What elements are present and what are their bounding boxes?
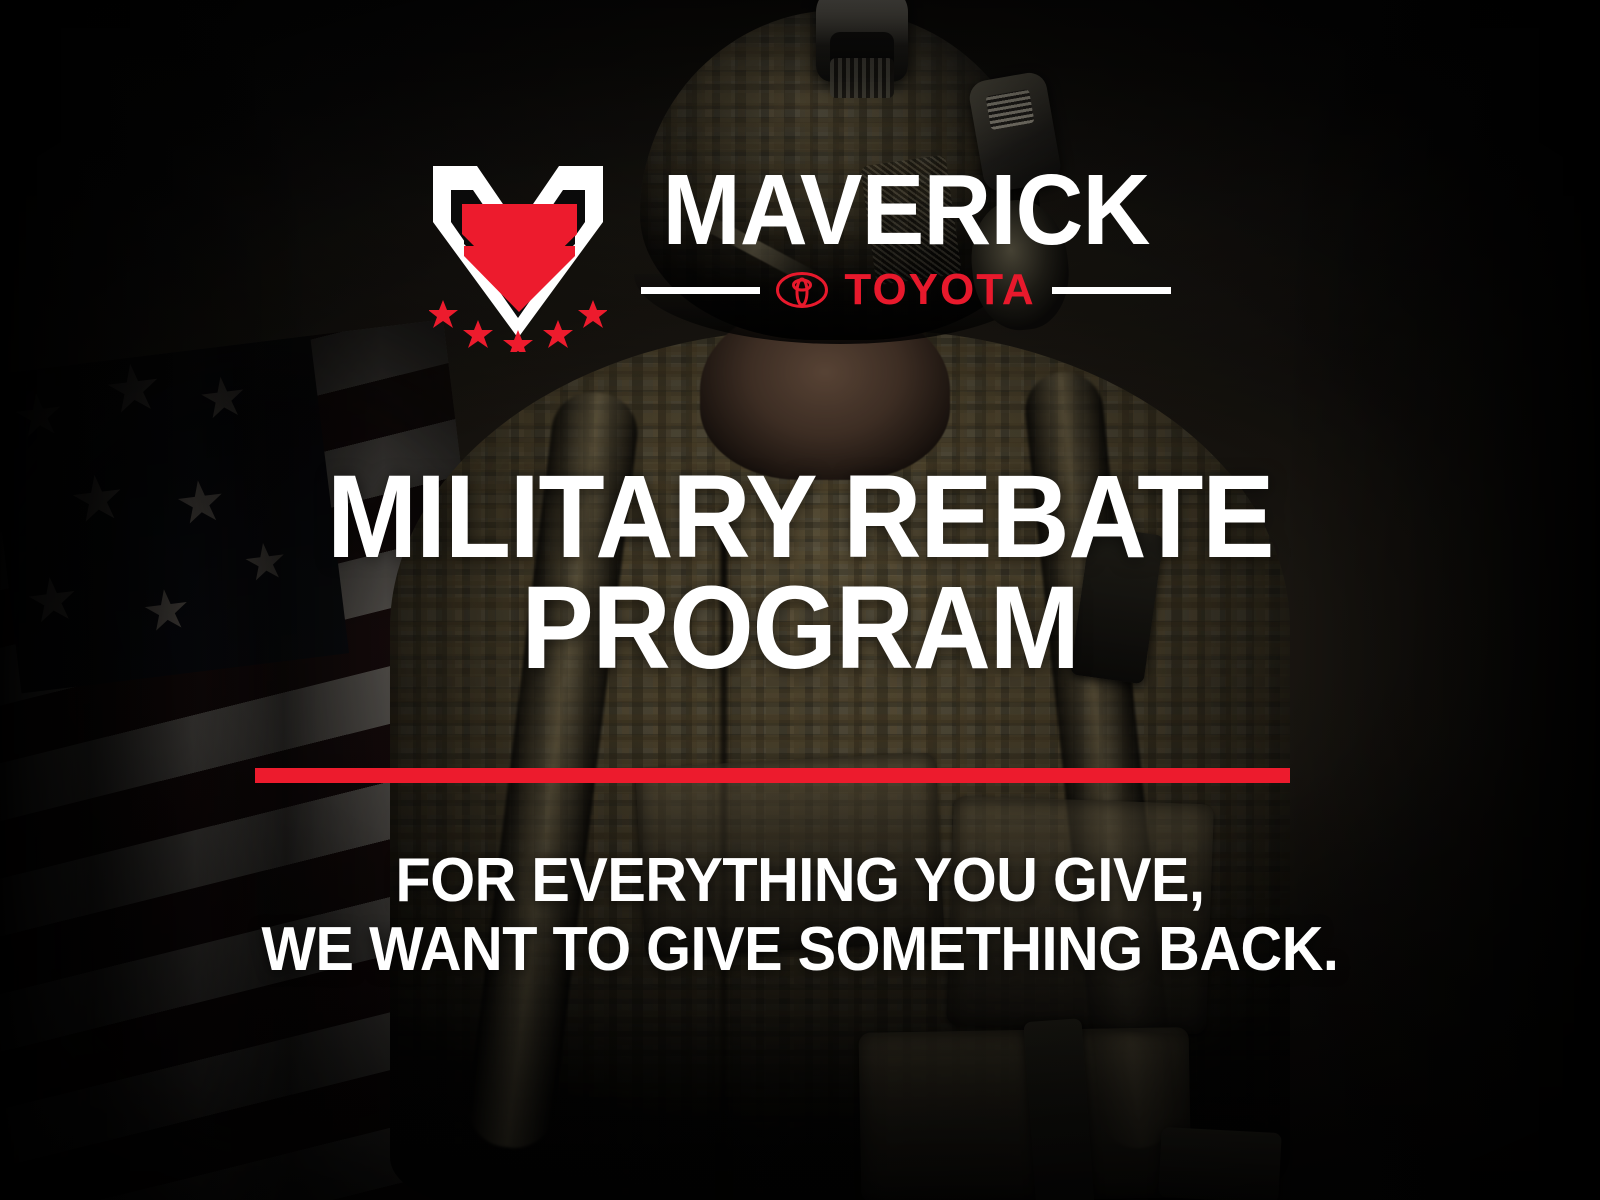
toyota-rule-right: [1052, 287, 1171, 294]
red-divider: [255, 768, 1290, 783]
make-name: TOYOTA: [844, 268, 1035, 312]
headline-line-2: PROGRAM: [64, 573, 1536, 684]
toyota-emblem-icon: [776, 272, 828, 308]
brand-logo-lockup[interactable]: MAVERICK TOYOTA: [0, 160, 1600, 360]
dealer-name: MAVERICK: [663, 164, 1150, 256]
tagline: FOR EVERYTHING YOU GIVE, WE WANT TO GIVE…: [56, 846, 1544, 985]
maverick-chevron-icon: [429, 160, 607, 352]
toyota-lockup: TOYOTA: [641, 268, 1171, 312]
maverick-wordmark-column: MAVERICK TOYOTA: [641, 160, 1171, 312]
banner-content: MAVERICK TOYOTA MILITARY REB: [0, 0, 1600, 1200]
page-title: MILITARY REBATE PROGRAM: [64, 462, 1536, 684]
military-rebate-banner: MAVERICK TOYOTA MILITARY REB: [0, 0, 1600, 1200]
tagline-line-1: FOR EVERYTHING YOU GIVE,: [56, 846, 1544, 915]
toyota-rule-left: [641, 287, 760, 294]
tagline-line-2: WE WANT TO GIVE SOMETHING BACK.: [56, 915, 1544, 984]
